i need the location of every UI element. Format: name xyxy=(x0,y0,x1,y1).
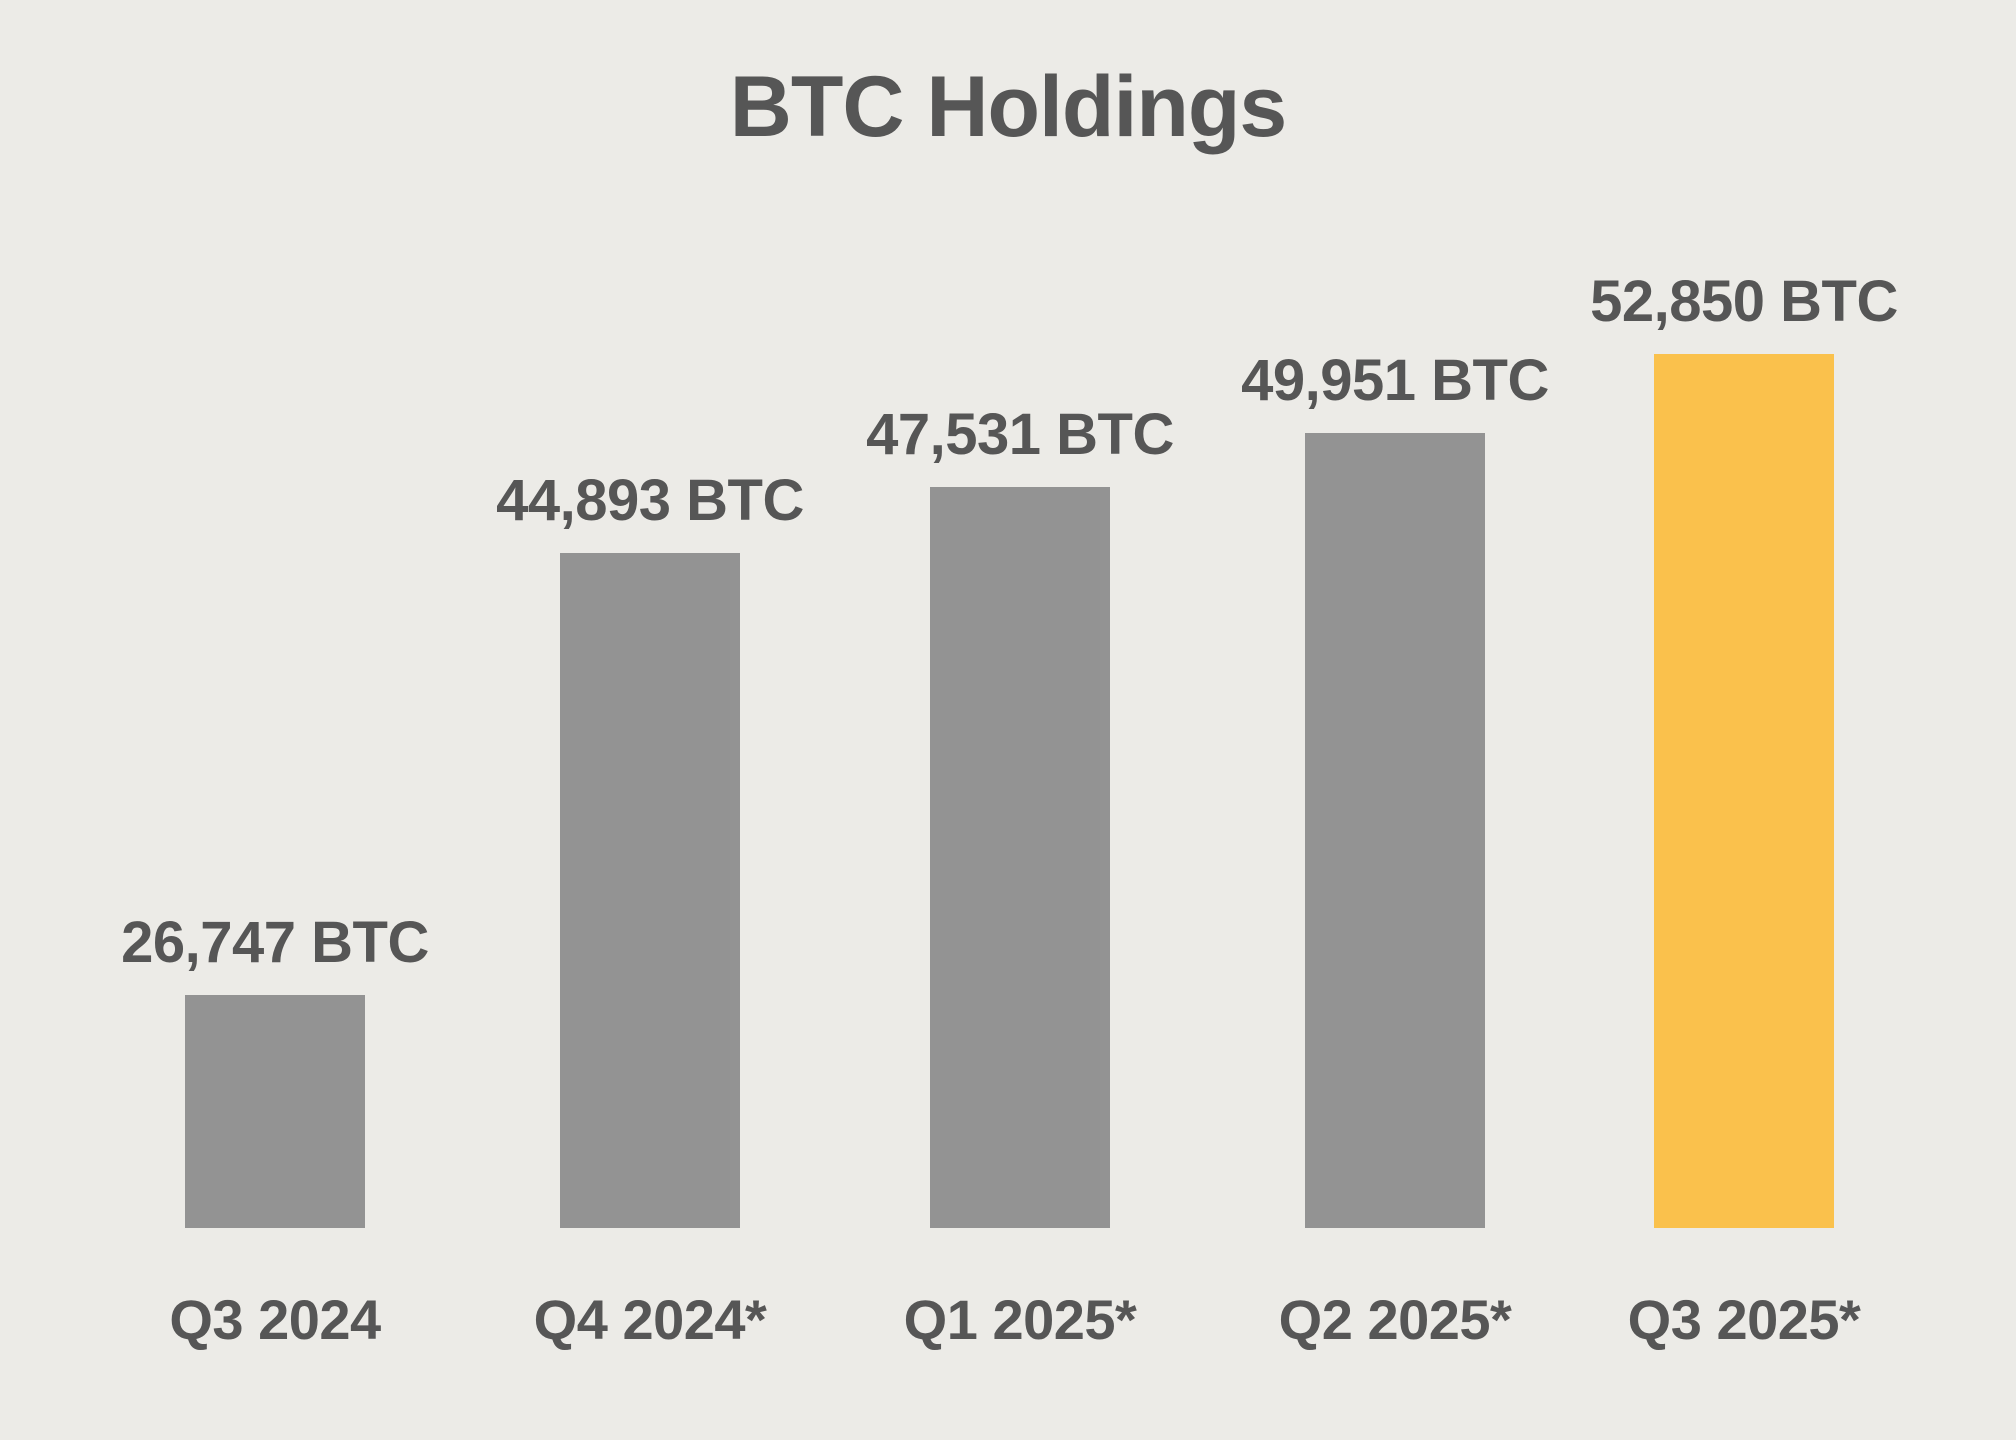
bar-value-label: 47,531 BTC xyxy=(866,401,1174,468)
plot-area: 26,747 BTCQ3 202444,893 BTCQ4 2024*47,53… xyxy=(0,0,2016,1440)
bar-category-label: Q2 2025* xyxy=(1279,1287,1512,1352)
bar-value-label: 44,893 BTC xyxy=(496,467,804,534)
chart-container: BTC Holdings 26,747 BTCQ3 202444,893 BTC… xyxy=(0,0,2016,1440)
bar-category-label: Q4 2024* xyxy=(534,1287,767,1352)
bar-rect[interactable] xyxy=(560,553,740,1228)
bar-group: 49,951 BTCQ2 2025* xyxy=(1305,0,1485,1440)
bar-rect[interactable] xyxy=(1305,433,1485,1228)
bar-rect-highlighted[interactable] xyxy=(1654,354,1834,1228)
bar-group: 47,531 BTCQ1 2025* xyxy=(930,0,1110,1440)
bar-group: 52,850 BTCQ3 2025* xyxy=(1654,0,1834,1440)
bar-group: 44,893 BTCQ4 2024* xyxy=(560,0,740,1440)
bar-category-label: Q3 2024 xyxy=(169,1287,380,1352)
bar-rect[interactable] xyxy=(930,487,1110,1228)
bar-value-label: 49,951 BTC xyxy=(1241,347,1549,414)
bar-category-label: Q1 2025* xyxy=(904,1287,1137,1352)
bar-value-label: 26,747 BTC xyxy=(121,909,429,976)
bar-category-label: Q3 2025* xyxy=(1628,1287,1861,1352)
bar-group: 26,747 BTCQ3 2024 xyxy=(185,0,365,1440)
bar-rect[interactable] xyxy=(185,995,365,1228)
bar-value-label: 52,850 BTC xyxy=(1590,268,1898,335)
